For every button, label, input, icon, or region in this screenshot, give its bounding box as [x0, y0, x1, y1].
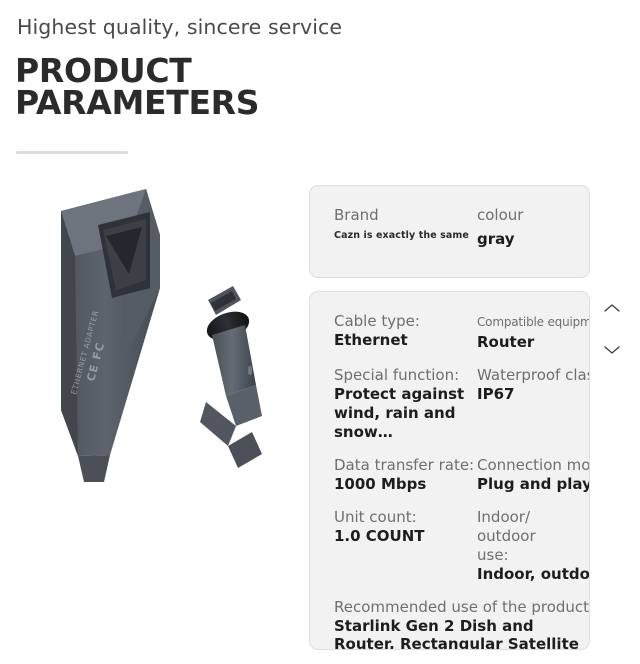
product-adapter-body [61, 189, 160, 482]
recommended-use-label: Recommended use of the product: [334, 598, 589, 617]
page-title-line-2: PARAMETERS [15, 87, 259, 119]
page-title: PRODUCT PARAMETERS [15, 55, 259, 119]
unit-count-value: 1.0 COUNT [334, 527, 477, 546]
compatible-equipment-label: Compatible equipment: [477, 312, 590, 331]
data-transfer-rate-cell: Data transfer rate: 1000 Mbps [334, 456, 477, 494]
unit-count-label: Unit count: [334, 508, 477, 527]
colour-label: colour [477, 206, 590, 225]
brand-label: Brand [334, 206, 477, 225]
scroll-controls[interactable] [592, 293, 632, 365]
compatible-equipment-cell: Compatible equipment: Router [477, 312, 590, 352]
cable-type-cell: Cable type: Ethernet [334, 312, 477, 352]
indoor-outdoor-label: Indoor/ outdoor use: [477, 508, 549, 565]
brand-colour-card: Brand Cazn is exactly the same colour gr… [309, 185, 590, 278]
product-illustration: ETHERNET ADAPTER CE FC [0, 170, 300, 664]
compatible-equipment-value: Router [477, 333, 590, 352]
connection-mode-cell: Connection mode: Plug and play [477, 456, 590, 494]
special-function-cell: Special function: Protect against wind, … [334, 366, 477, 442]
chevron-up-icon[interactable] [602, 302, 622, 314]
waterproof-class-label: Waterproof class: [477, 366, 590, 385]
product-parameters-card[interactable]: Cable type: Ethernet Compatible equipmen… [309, 291, 590, 650]
chevron-down-icon[interactable] [602, 344, 622, 356]
data-transfer-rate-value: 1000 Mbps [334, 475, 477, 494]
parameter-row: Special function: Protect against wind, … [334, 366, 589, 442]
brand-note: Cazn is exactly the same [334, 229, 477, 242]
brand-colour-row: Brand Cazn is exactly the same colour gr… [334, 206, 589, 249]
recommended-use-value: Starlink Gen 2 Dish and Router, Rectangu… [334, 617, 579, 650]
brand-colour-grid: Brand Cazn is exactly the same colour gr… [310, 186, 589, 277]
product-connector [200, 286, 262, 468]
indoor-outdoor-value: Indoor, outdoor [477, 565, 590, 584]
indoor-outdoor-cell: Indoor/ outdoor use: Indoor, outdoor [477, 508, 590, 584]
cable-type-label: Cable type: [334, 312, 477, 331]
title-divider [16, 151, 128, 154]
colour-value: gray [477, 230, 590, 249]
recommended-use-cell: Recommended use of the product: Starlink… [334, 598, 589, 650]
connection-mode-label: Connection mode: [477, 456, 590, 475]
parameter-row: Cable type: Ethernet Compatible equipmen… [334, 312, 589, 352]
tagline: Highest quality, sincere service [17, 15, 342, 39]
parameter-row: Unit count: 1.0 COUNT Indoor/ outdoor us… [334, 508, 589, 584]
unit-count-cell: Unit count: 1.0 COUNT [334, 508, 477, 584]
parameter-row: Data transfer rate: 1000 Mbps Connection… [334, 456, 589, 494]
waterproof-class-value: IP67 [477, 385, 590, 404]
colour-cell: colour gray [477, 206, 590, 249]
waterproof-class-cell: Waterproof class: IP67 [477, 366, 590, 442]
connection-mode-value: Plug and play [477, 475, 590, 494]
brand-cell: Brand Cazn is exactly the same [334, 206, 477, 249]
product-image: ETHERNET ADAPTER CE FC [0, 170, 300, 664]
special-function-label: Special function: [334, 366, 477, 385]
special-function-value: Protect against wind, rain and snow… [334, 385, 477, 442]
cable-type-value: Ethernet [334, 331, 477, 350]
parameters-grid: Cable type: Ethernet Compatible equipmen… [310, 292, 589, 649]
data-transfer-rate-label: Data transfer rate: [334, 456, 477, 475]
